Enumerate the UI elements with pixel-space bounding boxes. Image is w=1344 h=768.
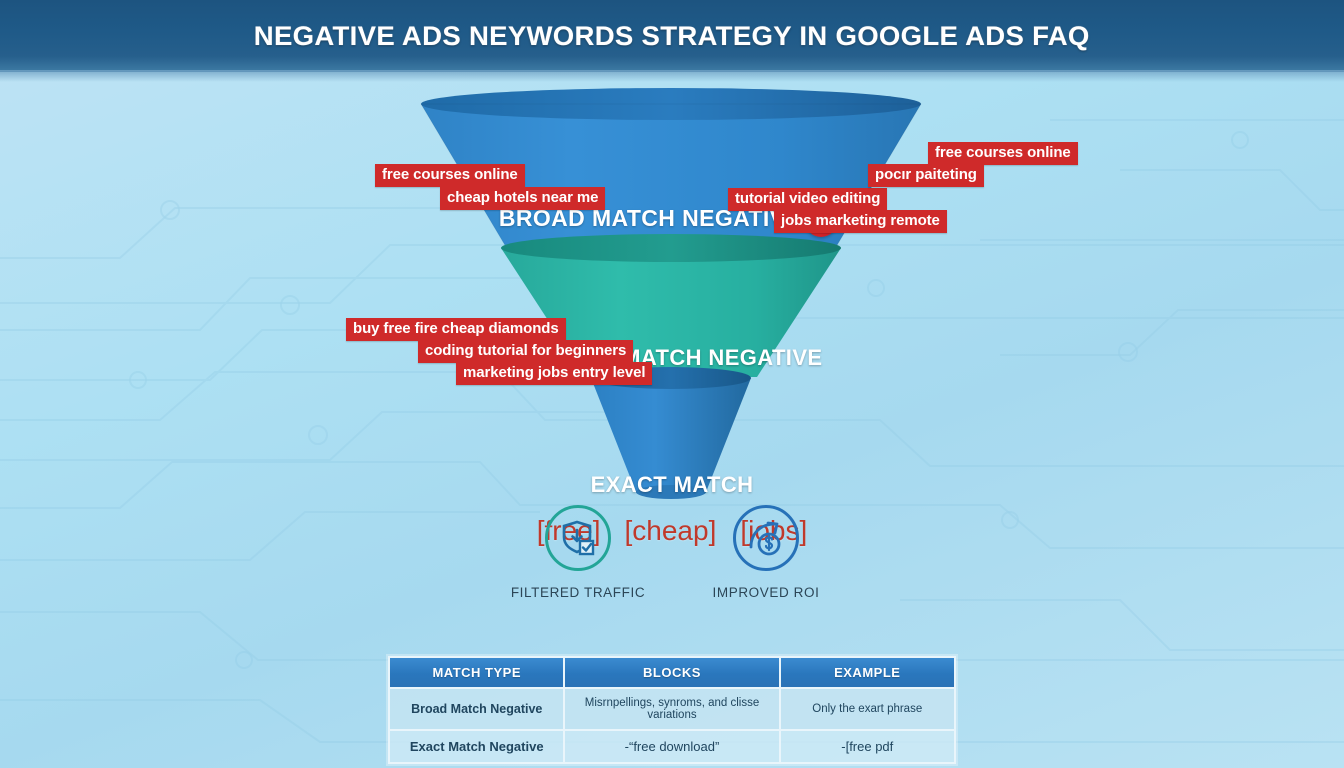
keyword-tag-phrase-0: buy free fire cheap diamonds — [346, 318, 566, 341]
keyword-tag-broad-2: tutorial video editing — [728, 188, 887, 211]
keyword-tag-broad-0: free courses online — [375, 164, 525, 187]
cell-blocks: Misrnpellings, synroms, and clisse varia… — [564, 688, 779, 730]
keyword-tag-broad-1: cheap hotels near me — [440, 187, 605, 210]
dollar-growth-glyph — [745, 517, 787, 559]
cell-example: Only the exart phrase — [780, 688, 955, 730]
benefit-caption: FILTERED TRAFFIC — [478, 585, 678, 600]
shield-check-icon — [545, 505, 611, 571]
infographic-canvas: NEGATIVE ADS NEYWORDS STRATEGY IN GOOGLE… — [0, 0, 1344, 768]
dollar-growth-icon — [733, 505, 799, 571]
column-header-match-type: MATCH TYPE — [389, 657, 564, 688]
header-bar: NEGATIVE ADS NEYWORDS STRATEGY IN GOOGLE… — [0, 0, 1344, 72]
cell-match-type: Exact Match Negative — [389, 730, 564, 763]
shield-check-glyph — [558, 518, 598, 558]
benefit-improved-roi: IMPROVED ROI — [666, 505, 866, 600]
table-header-row: MATCH TYPE BLOCKS EXAMPLE — [389, 657, 955, 688]
funnel-svg — [0, 72, 1344, 512]
keyword-tag-phrase-1: coding tutorial for beginners — [418, 340, 633, 363]
page-title: NEGATIVE ADS NEYWORDS STRATEGY IN GOOGLE… — [254, 21, 1090, 52]
cell-match-type: Broad Match Negative — [389, 688, 564, 730]
keyword-tag-broad-5: pocır paiteting — [868, 164, 984, 187]
funnel-diagram: BROAD MATCH NEGATIVE PHRASE MATCH NEGATI… — [0, 72, 1344, 512]
cell-blocks: -“free download” — [564, 730, 779, 763]
column-header-blocks: BLOCKS — [564, 657, 779, 688]
benefit-caption: IMPROVED ROI — [666, 585, 866, 600]
match-type-table: MATCH TYPE BLOCKS EXAMPLE Broad Match Ne… — [386, 654, 958, 766]
table-row: Broad Match NegativeMisrnpellings, synro… — [389, 688, 955, 730]
benefit-filtered-traffic: FILTERED TRAFFIC — [478, 505, 678, 600]
keyword-tag-phrase-2: marketing jobs entry level — [456, 362, 652, 385]
keyword-tag-broad-4: free courses online — [928, 142, 1078, 165]
table-row: Exact Match Negative-“free download”-[fr… — [389, 730, 955, 763]
column-header-example: EXAMPLE — [780, 657, 955, 688]
keyword-tag-broad-3: jobs marketing remote — [774, 210, 947, 233]
table-body: Broad Match NegativeMisrnpellings, synro… — [389, 688, 955, 763]
benefits-row: FILTERED TRAFFIC IMPROVED ROI — [0, 505, 1344, 645]
cell-example: -[free pdf — [780, 730, 955, 763]
